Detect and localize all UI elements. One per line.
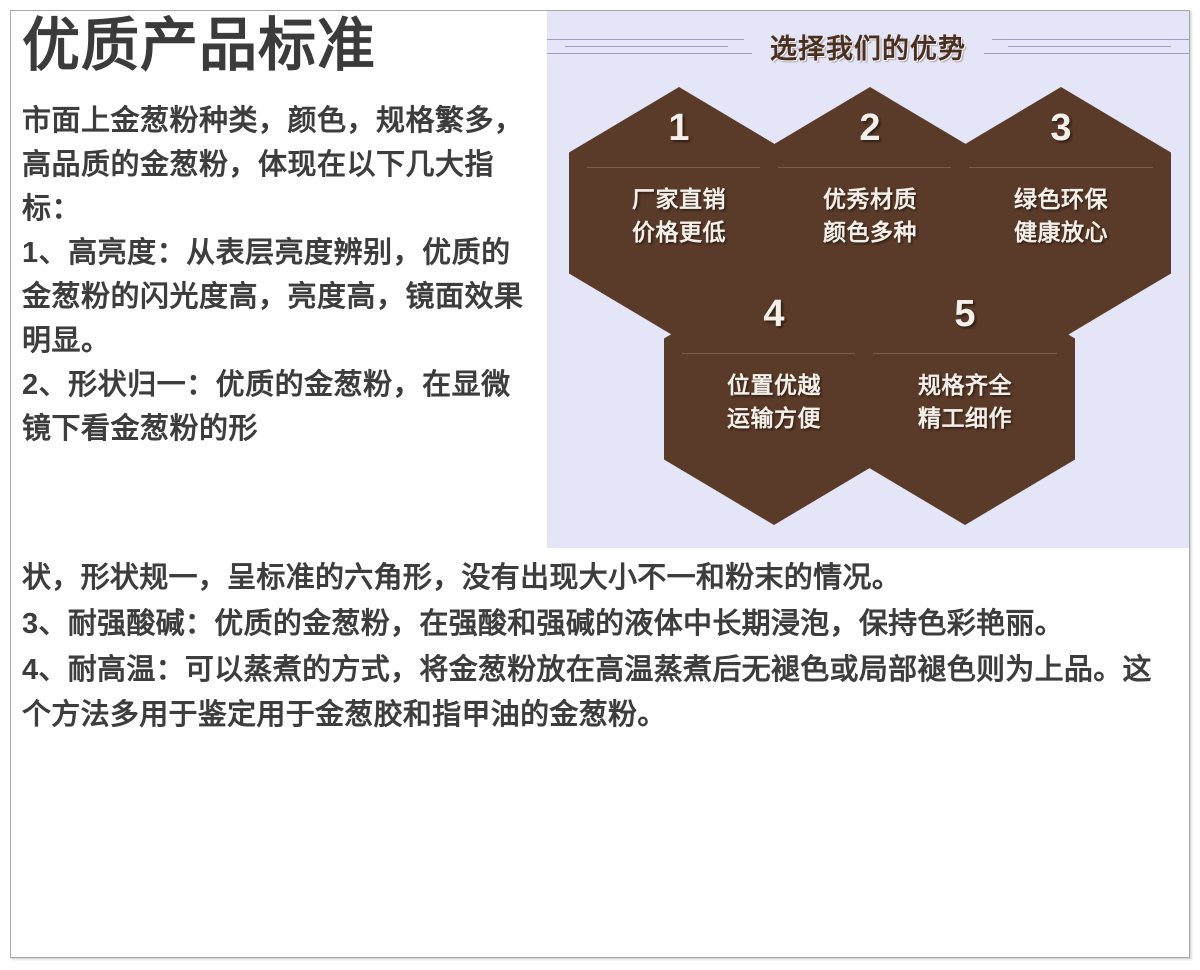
advantage-number: 3 <box>951 109 1171 147</box>
advantage-line-2: 运输方便 <box>664 402 884 435</box>
advantage-line-1: 规格齐全 <box>855 369 1075 402</box>
narrow-item-1: 1、高亮度：从表层亮度辨别，优质的金葱粉的闪光度高，亮度高，镜面效果明显。 <box>22 231 534 363</box>
advantage-line-1: 优秀材质 <box>760 183 980 216</box>
advantages-title: 选择我们的优势 <box>756 27 980 66</box>
advantage-text: 厂家直销 价格更低 <box>569 183 789 250</box>
narrow-item-2: 2、形状归一：优质的金葱粉，在显微镜下看金葱粉的形 <box>22 363 534 451</box>
advantage-line-1: 绿色环保 <box>951 183 1171 216</box>
advantage-line-2: 健康放心 <box>951 216 1171 249</box>
advantage-text: 绿色环保 健康放心 <box>951 183 1171 250</box>
advantage-divider <box>682 353 866 354</box>
advantage-line-2: 价格更低 <box>569 216 789 249</box>
advantages-panel: 选择我们的优势 1 厂家直销 价格更低 2 优秀材质 <box>547 11 1189 548</box>
wide-item-3: 4、耐高温：可以蒸煮的方式，将金葱粉放在高温蒸煮后无褪色或局部褪色则为上品。这个… <box>22 648 1172 740</box>
advantage-line-2: 颜色多种 <box>760 216 980 249</box>
header-rules-left <box>547 33 756 59</box>
honeycomb-grid: 1 厂家直销 价格更低 2 优秀材质 颜色多种 3 绿色环保 <box>547 73 1189 543</box>
advantage-number: 1 <box>569 109 789 147</box>
header-rule-line <box>565 46 728 47</box>
intro-paragraph: 市面上金葱粉种类，颜色，规格繁多，高品质的金葱粉，体现在以下几大指标： <box>22 99 534 231</box>
advantage-text: 规格齐全 精工细作 <box>855 369 1075 436</box>
wide-item-2: 3、耐强酸碱：优质的金葱粉，在强酸和强碱的液体中长期浸泡，保持色彩艳丽。 <box>22 602 1172 648</box>
advantage-line-2: 精工细作 <box>855 402 1075 435</box>
page-title: 优质产品标准 <box>22 16 534 77</box>
product-standards-banner: 优质产品标准 市面上金葱粉种类，颜色，规格繁多，高品质的金葱粉，体现在以下几大指… <box>0 0 1200 970</box>
advantage-line-1: 位置优越 <box>664 369 884 402</box>
advantage-divider <box>778 167 962 168</box>
advantage-divider <box>873 353 1057 354</box>
wide-item-1: 状，形状规一，呈标准的六角形，没有出现大小不一和粉末的情况。 <box>22 556 1172 602</box>
advantage-text: 优秀材质 颜色多种 <box>760 183 980 250</box>
advantages-header: 选择我们的优势 <box>547 17 1189 75</box>
header-rules-right <box>980 33 1189 59</box>
advantage-line-1: 厂家直销 <box>569 183 789 216</box>
header-rule-line <box>547 39 744 40</box>
header-rule-line <box>992 39 1189 40</box>
advantage-text: 位置优越 运输方便 <box>664 369 884 436</box>
advantage-divider <box>587 167 771 168</box>
header-rule-line <box>984 53 1189 54</box>
wide-text-column: 状，形状规一，呈标准的六角形，没有出现大小不一和粉末的情况。 3、耐强酸碱：优质… <box>22 556 1172 739</box>
advantage-divider <box>969 167 1153 168</box>
advantage-number: 2 <box>760 109 980 147</box>
header-rule-line <box>547 53 752 54</box>
left-text-column: 优质产品标准 市面上金葱粉种类，颜色，规格繁多，高品质的金葱粉，体现在以下几大指… <box>22 16 534 452</box>
header-rule-line <box>1008 46 1171 47</box>
